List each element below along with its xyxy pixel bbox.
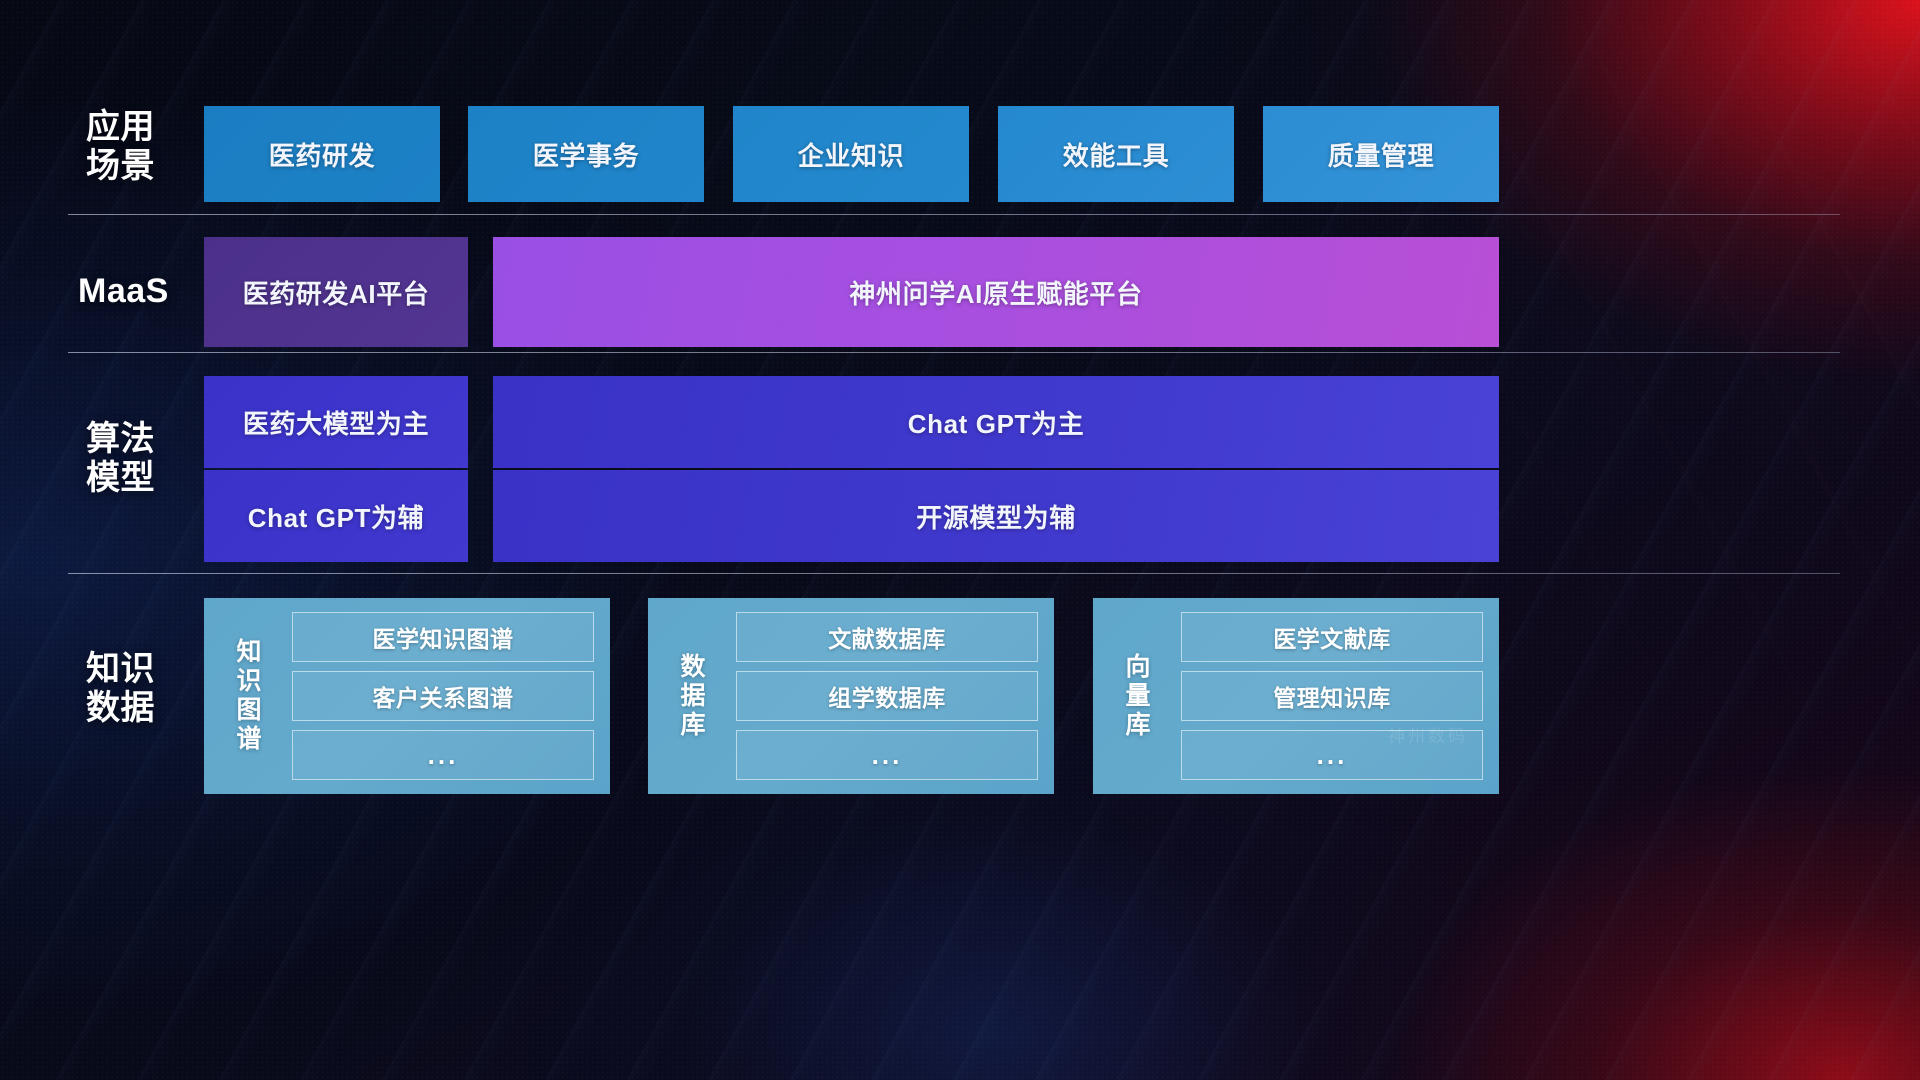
knowledge-group-title: 知 识 图 谱	[220, 612, 278, 780]
divider-application-maas	[68, 214, 1840, 215]
knowledge-item[interactable]: 管理知识库	[1181, 671, 1483, 721]
knowledge-group-title: 向 量 库	[1109, 612, 1167, 780]
diagram-canvas: 应用 场景 医药研发 医学事务 企业知识 效能工具 质量管理 MaaS 医药研发…	[0, 0, 1920, 1080]
knowledge-group-items: 医学知识图谱 客户关系图谱 ...	[292, 612, 594, 780]
maas-box-pharma-ai-platform[interactable]: 医药研发AI平台	[204, 237, 468, 347]
divider-maas-algorithm	[68, 352, 1840, 353]
knowledge-item-more[interactable]: ...	[1181, 730, 1483, 780]
divider-algorithm-knowledge	[68, 573, 1840, 574]
knowledge-group-title: 数 据 库	[664, 612, 722, 780]
algorithm-box-row2-right[interactable]: 开源模型为辅	[493, 470, 1499, 562]
knowledge-item[interactable]: 医学文献库	[1181, 612, 1483, 662]
maas-box-shenzhou-wenxue-platform[interactable]: 神州问学AI原生赋能平台	[493, 237, 1499, 347]
algorithm-box-row1-left[interactable]: 医药大模型为主	[204, 376, 468, 468]
tier-label-knowledge: 知识 数据	[86, 650, 216, 728]
application-box-enterprise-knowledge[interactable]: 企业知识	[733, 106, 969, 202]
algorithm-box-row2-left[interactable]: Chat GPT为辅	[204, 470, 468, 562]
knowledge-item[interactable]: 医学知识图谱	[292, 612, 594, 662]
application-box-quality-management[interactable]: 质量管理	[1263, 106, 1499, 202]
knowledge-item-more[interactable]: ...	[736, 730, 1038, 780]
algorithm-box-row1-right[interactable]: Chat GPT为主	[493, 376, 1499, 468]
knowledge-group-vector-store[interactable]: 向 量 库 医学文献库 管理知识库 ...	[1093, 598, 1499, 794]
knowledge-group-database[interactable]: 数 据 库 文献数据库 组学数据库 ...	[648, 598, 1054, 794]
knowledge-item-more[interactable]: ...	[292, 730, 594, 780]
application-box-medical-affairs[interactable]: 医学事务	[468, 106, 704, 202]
knowledge-group-items: 医学文献库 管理知识库 ...	[1181, 612, 1483, 780]
knowledge-item[interactable]: 组学数据库	[736, 671, 1038, 721]
tier-label-algorithm: 算法 模型	[86, 420, 216, 498]
knowledge-item[interactable]: 文献数据库	[736, 612, 1038, 662]
application-box-efficiency-tools[interactable]: 效能工具	[998, 106, 1234, 202]
knowledge-group-knowledge-graph[interactable]: 知 识 图 谱 医学知识图谱 客户关系图谱 ...	[204, 598, 610, 794]
knowledge-group-items: 文献数据库 组学数据库 ...	[736, 612, 1038, 780]
knowledge-item[interactable]: 客户关系图谱	[292, 671, 594, 721]
application-box-medical-rnd[interactable]: 医药研发	[204, 106, 440, 202]
tier-label-application: 应用 场景	[86, 108, 216, 186]
